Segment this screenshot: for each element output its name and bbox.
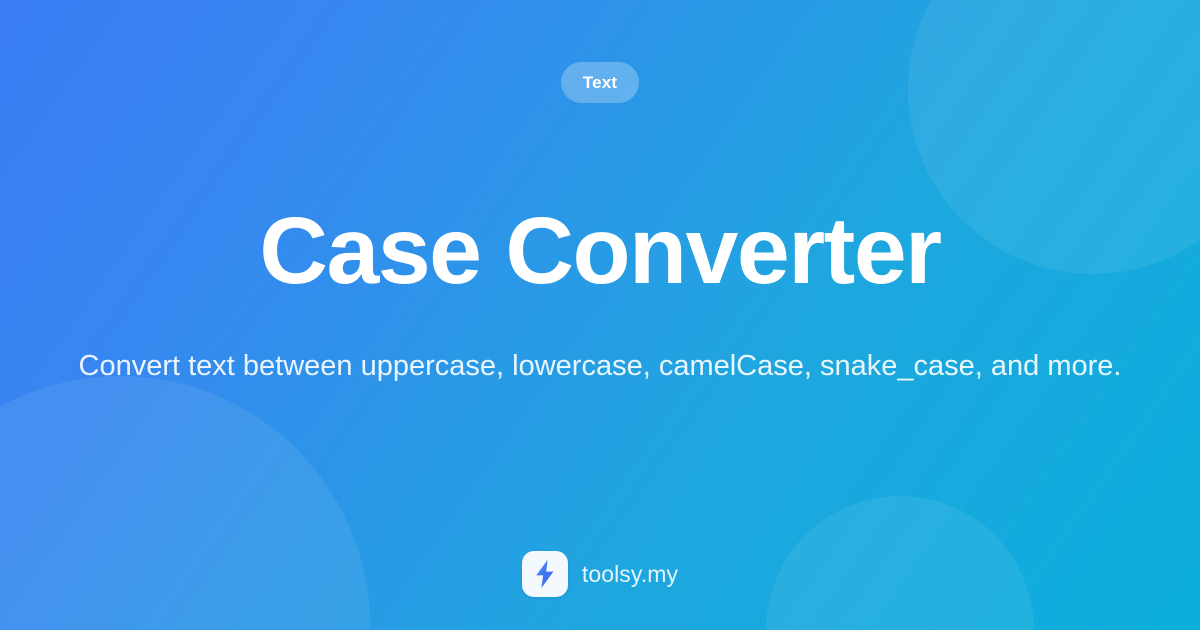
og-card: Text Case Converter Convert text between…: [0, 0, 1200, 630]
page-subtitle: Convert text between uppercase, lowercas…: [70, 344, 1130, 388]
card-content: Text Case Converter Convert text between…: [0, 0, 1200, 630]
page-title: Case Converter: [259, 204, 940, 299]
category-badge: Text: [561, 62, 640, 103]
category-badge-label: Text: [583, 73, 618, 93]
